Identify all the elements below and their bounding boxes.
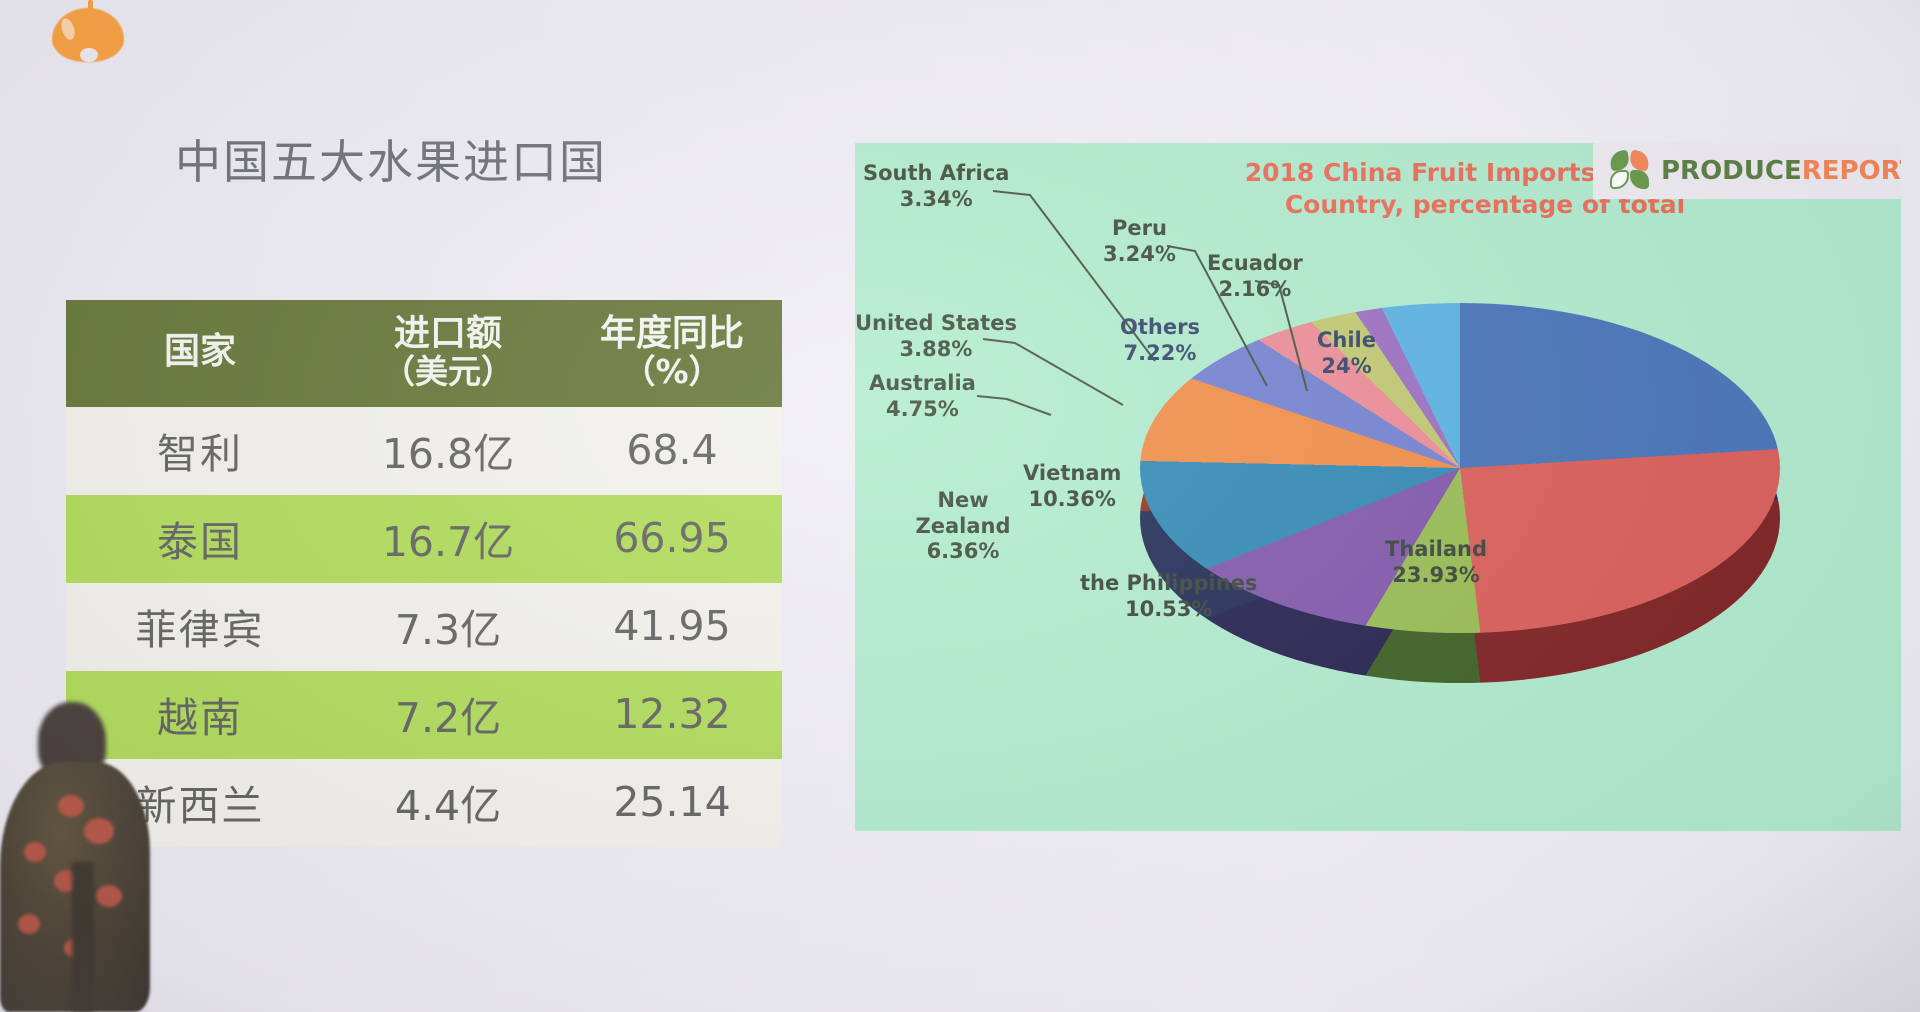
- apple-notch: [80, 48, 98, 62]
- pie-label-others: Others 7.22%: [1120, 315, 1200, 366]
- cell-value: 7.3亿: [334, 583, 562, 671]
- pie-chart-panel: 2018 China Fruit Imports by Value Countr…: [855, 143, 1901, 831]
- produce-report-wordmark: PRODUCEREPORT: [1661, 156, 1901, 186]
- table-row: 新西兰 4.4亿 25.14: [66, 759, 782, 847]
- cell-country: 新西兰: [66, 759, 334, 847]
- column-header-yoy: 年度同比 （%）: [562, 300, 782, 407]
- pie-label-ecuador: Ecuador 2.16%: [1207, 251, 1303, 302]
- table-row: 菲律宾 7.3亿 41.95: [66, 583, 782, 671]
- pie-label-united-states: United States 3.88%: [855, 311, 1017, 362]
- pie-label-chile: Chile 24%: [1317, 328, 1376, 379]
- column-header-country: 国家: [66, 300, 334, 407]
- table-row: 泰国 16.7亿 66.95: [66, 495, 782, 583]
- cell-value: 4.4亿: [334, 759, 562, 847]
- cell-country: 菲律宾: [66, 583, 334, 671]
- cell-yoy: 68.4: [562, 407, 782, 495]
- cell-yoy: 12.32: [562, 671, 782, 759]
- cell-yoy: 25.14: [562, 759, 782, 847]
- cell-value: 16.8亿: [334, 407, 562, 495]
- cell-country: 泰国: [66, 495, 334, 583]
- table-header-row: 国家 进口额 （美元） 年度同比 （%）: [66, 300, 782, 407]
- page-title: 中国五大水果进口国: [175, 126, 735, 192]
- pie-label-peru: Peru 3.24%: [1103, 216, 1176, 267]
- four-petal-leaf-icon: [1609, 151, 1651, 191]
- cell-country: 智利: [66, 407, 334, 495]
- cell-country: 越南: [66, 671, 334, 759]
- cell-value: 16.7亿: [334, 495, 562, 583]
- table-row: 越南 7.2亿 12.32: [66, 671, 782, 759]
- column-header-import-value: 进口额 （美元）: [334, 300, 562, 407]
- pie-label-australia: Australia 4.75%: [869, 371, 976, 422]
- presentation-slide: 中国五大水果进口国 国家 进口额 （美元） 年度同比 （%）: [0, 0, 1920, 1012]
- import-table: 国家 进口额 （美元） 年度同比 （%） 智利 16.8亿 68.4 泰国: [66, 300, 782, 847]
- cell-value: 7.2亿: [334, 671, 562, 759]
- produce-report-logo: PRODUCEREPORT: [1593, 143, 1901, 199]
- pie-label-philippines: the Philippines 10.53%: [1080, 571, 1257, 622]
- apple-icon: [52, 0, 124, 62]
- cell-yoy: 66.95: [562, 495, 782, 583]
- table-row: 智利 16.8亿 68.4: [66, 407, 782, 495]
- pie-label-vietnam: Vietnam 10.36%: [1023, 461, 1121, 512]
- pie-label-new-zealand: New Zealand 6.36%: [903, 488, 1023, 565]
- pie-label-south-africa: South Africa 3.34%: [863, 161, 1009, 212]
- pie-label-thailand: Thailand 23.93%: [1385, 537, 1487, 588]
- cell-yoy: 41.95: [562, 583, 782, 671]
